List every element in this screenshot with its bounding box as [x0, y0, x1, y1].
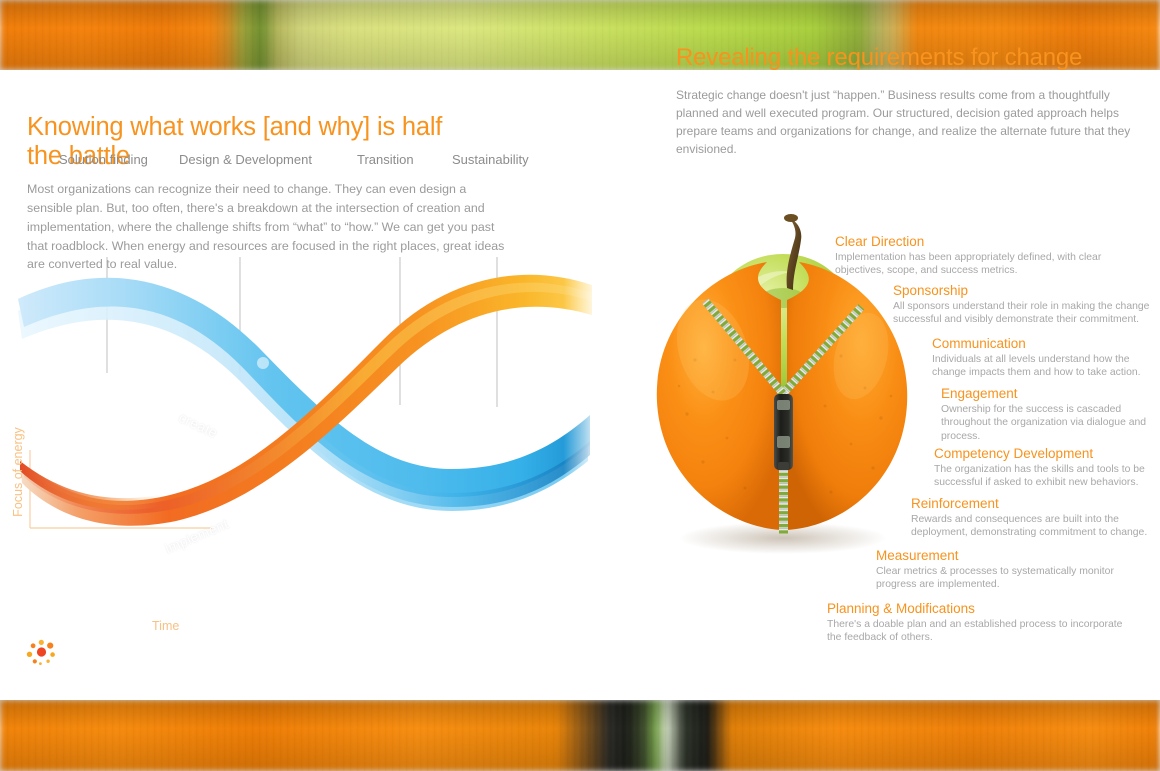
requirement-item: Reinforcement Rewards and consequences a… [911, 496, 1159, 540]
chart-category-transition: Transition [357, 152, 414, 167]
requirement-title: Sponsorship [893, 283, 1160, 299]
requirement-item: Sponsorship All sponsors understand thei… [893, 283, 1160, 327]
bottom-banner-image [0, 700, 1160, 771]
requirement-item: Competency Development The organization … [934, 446, 1156, 490]
requirement-title: Clear Direction [835, 234, 1125, 250]
requirement-description: Individuals at all levels understand how… [932, 353, 1160, 381]
requirement-description: Implementation has been appropriately de… [835, 251, 1125, 279]
bottom-banner-vignette [0, 700, 1160, 771]
requirement-description: The organization has the skills and tool… [934, 463, 1156, 491]
zipper-pull-icon [774, 394, 793, 470]
requirement-description: All sponsors understand their role in ma… [893, 300, 1160, 328]
zipper-closed [779, 468, 788, 534]
requirement-item: Clear Direction Implementation has been … [835, 234, 1125, 278]
chart-svg [0, 255, 600, 585]
requirement-item: Communication Individuals at all levels … [932, 336, 1160, 380]
requirement-description: Clear metrics & processes to systematica… [876, 565, 1156, 593]
chart-x-axis-label: Time [152, 619, 179, 633]
dot-cluster-logo [22, 636, 62, 668]
chart-category-sustainability: Sustainability [452, 152, 529, 167]
focus-of-energy-chart: Solution finding Design & Development Tr… [0, 255, 600, 585]
requirement-item: Measurement Clear metrics & processes to… [876, 548, 1156, 592]
crossing-highlight [257, 357, 269, 369]
right-page-title: Revealing the requirements for change [676, 45, 1146, 72]
chart-category-solution-finding: Solution finding [59, 152, 148, 167]
chart-right-fade [470, 255, 600, 585]
requirement-title: Competency Development [934, 446, 1156, 462]
requirement-title: Engagement [941, 386, 1156, 402]
requirement-title: Measurement [876, 548, 1156, 564]
slide-page: Knowing what works [and why] is half the… [0, 0, 1160, 771]
chart-y-axis-label: Focus of energy [11, 427, 25, 517]
left-column: Knowing what works [and why] is half the… [0, 70, 620, 700]
requirement-item: Planning & Modifications There's a doabl… [827, 601, 1127, 645]
requirement-item: Engagement Ownership for the success is … [941, 386, 1156, 444]
requirement-description: There's a doable plan and an established… [827, 618, 1127, 646]
requirement-description: Ownership for the success is cascaded th… [941, 403, 1156, 445]
requirement-title: Reinforcement [911, 496, 1159, 512]
requirement-description: Rewards and consequences are built into … [911, 513, 1159, 541]
requirement-title: Communication [932, 336, 1160, 352]
right-body-paragraph: Strategic change doesn't just “happen.” … [676, 86, 1150, 158]
chart-category-design-development: Design & Development [179, 152, 312, 167]
requirement-title: Planning & Modifications [827, 601, 1127, 617]
